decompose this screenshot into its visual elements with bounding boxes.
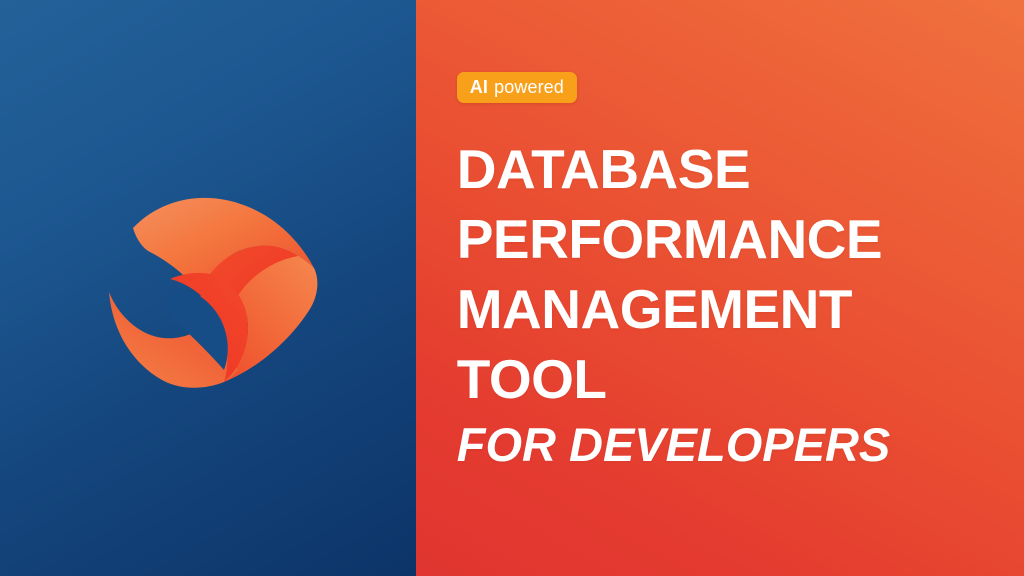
headline-line-3: MANAGEMENT	[457, 274, 1024, 344]
headline-line-1: DATABASE	[457, 134, 1024, 204]
logo-panel	[0, 0, 416, 576]
ai-powered-badge: AI powered	[457, 72, 577, 103]
badge-ai-label: AI	[470, 78, 488, 96]
page-title: DATABASE PERFORMANCE MANAGEMENT TOOL FOR…	[457, 134, 1024, 474]
headline-line-4: TOOL	[457, 344, 1024, 414]
brand-logo	[100, 176, 320, 398]
promo-poster: AI powered DATABASE PERFORMANCE MANAGEME…	[0, 0, 1024, 576]
message-panel: AI powered DATABASE PERFORMANCE MANAGEME…	[416, 0, 1024, 576]
badge-powered-label: powered	[494, 78, 564, 96]
subheadline: FOR DEVELOPERS	[457, 416, 1024, 474]
headline-line-2: PERFORMANCE	[457, 204, 1024, 274]
